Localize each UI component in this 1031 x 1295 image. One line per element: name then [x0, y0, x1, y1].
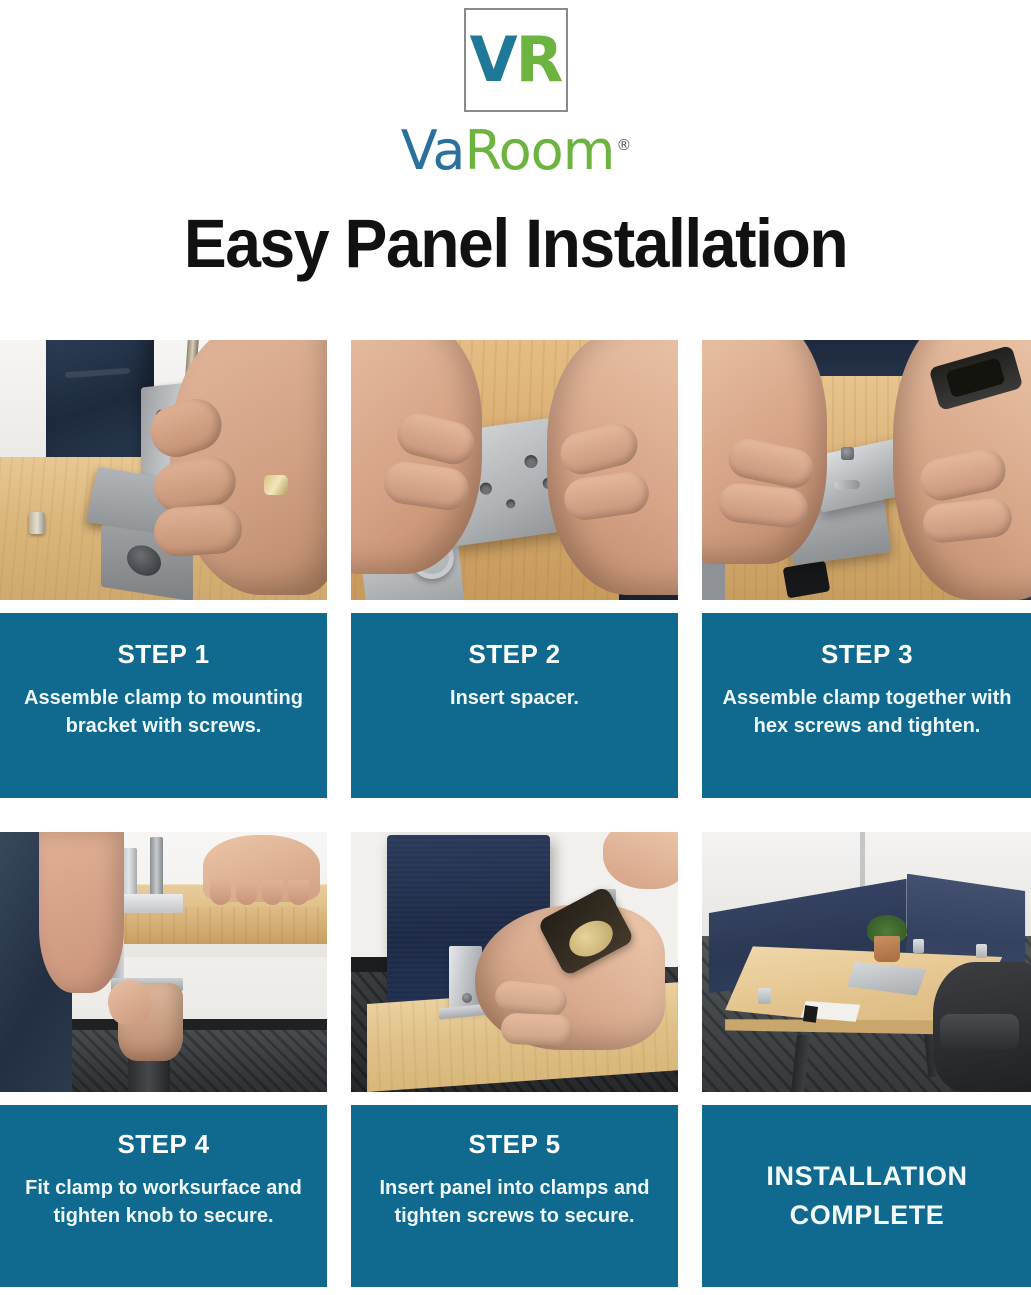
step-title-4: STEP 4 — [14, 1129, 313, 1160]
step-card-5: STEP 5 Insert panel into clamps and tigh… — [351, 832, 678, 1287]
step-caption-3: STEP 3 Assemble clamp together with hex … — [702, 613, 1031, 798]
step-title-2: STEP 2 — [365, 639, 664, 670]
step-text-2: Insert spacer. — [365, 684, 664, 712]
step-card-3: STEP 3 Assemble clamp together with hex … — [702, 340, 1031, 798]
step-card-2: STEP 2 Insert spacer. — [351, 340, 678, 798]
logo-mark-v: V — [470, 23, 516, 96]
step-photo-3 — [702, 340, 1031, 600]
step-title-3: STEP 3 — [716, 639, 1018, 670]
steps-grid: STEP 1 Assemble clamp to mounting bracke… — [0, 340, 1031, 1287]
step-photo-1 — [0, 340, 327, 600]
step-photo-2 — [351, 340, 678, 600]
step-caption-6: INSTALLATION COMPLETE — [702, 1105, 1031, 1287]
page-title: Easy Panel Installation — [36, 204, 995, 283]
step-card-4: STEP 4 Fit clamp to worksurface and tigh… — [0, 832, 327, 1287]
logo-mark-vr: VR — [470, 29, 562, 91]
step-caption-4: STEP 4 Fit clamp to worksurface and tigh… — [0, 1105, 327, 1287]
step-text-5: Insert panel into clamps and tighten scr… — [365, 1174, 664, 1231]
step-title-1: STEP 1 — [14, 639, 313, 670]
step-card-6: INSTALLATION COMPLETE — [702, 832, 1031, 1287]
step-photo-4 — [0, 832, 327, 1092]
registered-trademark-icon: ® — [616, 136, 630, 154]
step-photo-6 — [702, 832, 1031, 1092]
logo-wordmark-va: Va — [401, 119, 465, 182]
step-text-4: Fit clamp to worksurface and tighten kno… — [14, 1174, 313, 1231]
logo-mark-box: VR — [464, 8, 568, 112]
logo-wordmark: VaRoom® — [401, 124, 631, 178]
installation-complete-label: INSTALLATION COMPLETE — [716, 1157, 1018, 1235]
step-photo-5 — [351, 832, 678, 1092]
step-caption-2: STEP 2 Insert spacer. — [351, 613, 678, 798]
step-caption-5: STEP 5 Insert panel into clamps and tigh… — [351, 1105, 678, 1287]
step-text-3: Assemble clamp together with hex screws … — [716, 684, 1018, 741]
step-text-1: Assemble clamp to mounting bracket with … — [14, 684, 313, 741]
step-card-1: STEP 1 Assemble clamp to mounting bracke… — [0, 340, 327, 798]
page-header: VR VaRoom® Easy Panel Installation — [0, 0, 1031, 283]
step-caption-1: STEP 1 Assemble clamp to mounting bracke… — [0, 613, 327, 798]
step-title-5: STEP 5 — [365, 1129, 664, 1160]
brand-logo: VR VaRoom® — [0, 8, 1031, 178]
logo-mark-r: R — [516, 23, 562, 96]
logo-wordmark-room: Room — [465, 119, 615, 182]
